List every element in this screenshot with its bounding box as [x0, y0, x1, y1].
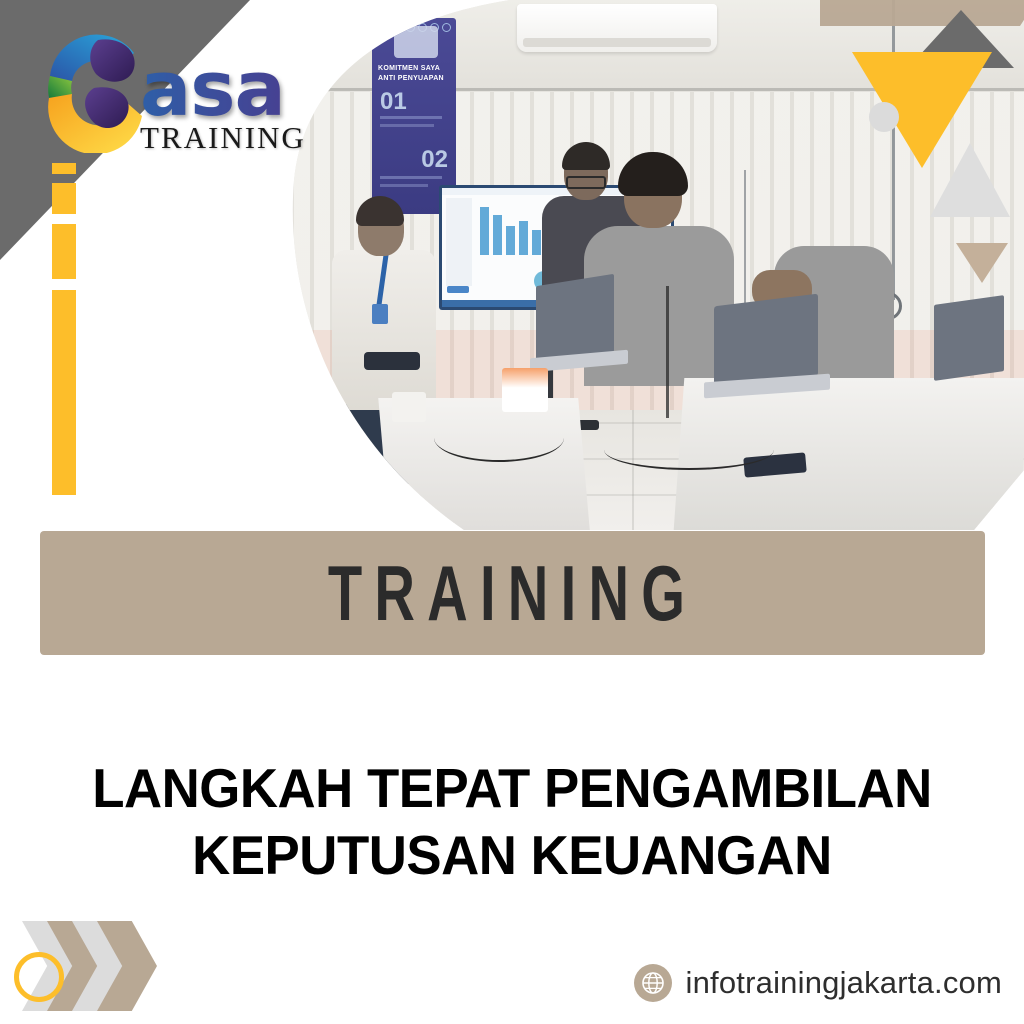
wall-poster-title-2: ANTI PENYUAPAN	[378, 74, 450, 83]
cable-1	[434, 414, 564, 462]
yellow-dash-bar-1	[52, 163, 76, 174]
logo-wordmark: asa TRAINING	[140, 54, 306, 156]
participant-1-glasses-icon	[566, 176, 606, 189]
headline-line-2: KEPUTUSAN KEUANGAN	[20, 822, 1003, 889]
laptop-3-lid	[934, 295, 1004, 381]
air-conditioner	[517, 4, 717, 52]
logo-subtitle: TRAINING	[140, 120, 306, 156]
yellow-ring-outline-decor	[14, 952, 64, 1002]
tissue-box-left	[392, 392, 426, 422]
bag-on-table	[364, 352, 420, 370]
brand-logo[interactable]: asa TRAINING	[30, 18, 340, 158]
yellow-dash-bar-4	[52, 290, 76, 495]
training-banner-label: TRAINING	[328, 548, 697, 639]
yellow-dash-bar-3	[52, 224, 76, 279]
tan-parallelogram-decor	[820, 0, 1024, 26]
dashboard-bar-5	[532, 230, 541, 255]
presenter-badge	[372, 304, 388, 324]
cable-2	[604, 430, 774, 470]
headline-block: LANGKAH TEPAT PENGAMBILAN KEPUTUSAN KEUA…	[0, 755, 1024, 889]
poster-canvas: KOMITMEN SAYA ANTI PENYUAPAN 01 02	[0, 0, 1024, 1024]
cable-3	[666, 286, 669, 418]
headline-line-1: LANGKAH TEPAT PENGAMBILAN	[20, 755, 1003, 822]
chevron-decor-group	[14, 921, 194, 1011]
logo-name: asa	[140, 54, 306, 124]
website-url[interactable]: infotrainingjakarta.com	[686, 965, 1002, 1001]
dashboard-bar-1	[480, 207, 489, 255]
light-gray-circle-decor	[869, 102, 899, 132]
dashboard-bar-2	[493, 215, 502, 255]
training-banner: TRAINING	[40, 531, 985, 655]
dashboard-bar-4	[519, 221, 528, 255]
wall-poster-title-1: KOMITMEN SAYA	[378, 64, 450, 73]
wall-poster-number-02: 02	[421, 146, 448, 174]
website-footer[interactable]: infotrainingjakarta.com	[634, 964, 1002, 1002]
dashboard-bar-3	[506, 226, 515, 255]
tissue-box-right	[502, 368, 548, 412]
laptop-1-lid	[536, 274, 614, 364]
laptop-2-lid	[714, 294, 818, 389]
hanging-rod	[892, 0, 895, 300]
wall-poster-number-01: 01	[380, 88, 407, 116]
globe-icon	[634, 964, 672, 1002]
yellow-dash-bar-2	[52, 183, 76, 214]
